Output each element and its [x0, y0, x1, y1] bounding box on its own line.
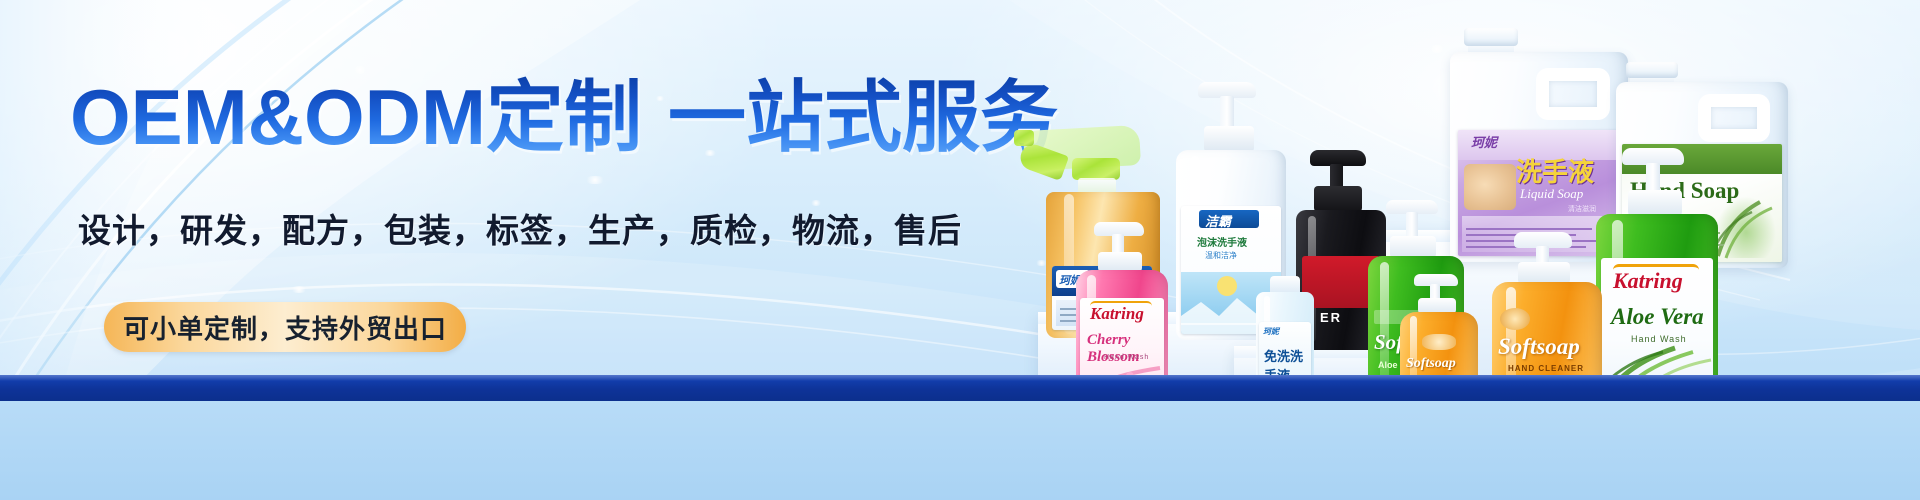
pump-stem: [1220, 96, 1234, 130]
blue-bottle-brand: 珂妮: [1263, 326, 1279, 337]
banner-text-block: OEM&ODM定制一站式服务 设计，研发，配方，包装，标签，生产，质检，物流，售…: [0, 0, 1000, 400]
spray-collar: [1072, 158, 1120, 180]
white-bottle-tag: 温和洁净: [1205, 250, 1237, 261]
jerrycan-handle: [1698, 94, 1770, 142]
bottom-band: [0, 375, 1920, 500]
black-bottle-label-text: ER: [1320, 310, 1342, 325]
jerrycan-handle: [1536, 68, 1610, 120]
status-badge-label: 可小单定制，支持外贸出口: [123, 309, 447, 346]
jerrycan-cap: [1626, 62, 1678, 78]
pump-collar: [1204, 126, 1254, 152]
orange-bottle-seal: [1500, 308, 1530, 330]
pump-collar: [1628, 190, 1682, 216]
product-showcase: 珂妮 洗手液 Liquid Soap 清洁滋润: [980, 0, 1920, 400]
pump-collar: [1518, 262, 1570, 284]
orange-small-brand: Softsoap: [1406, 356, 1456, 372]
pink-bottle-brand: Katring: [1090, 304, 1144, 324]
orange-bottle-brand: Softsoap: [1498, 334, 1580, 360]
katring-aloe-brand: Katring: [1613, 268, 1683, 294]
banner-subtitle: 设计，研发，配方，包装，标签，生产，质检，物流，售后: [78, 204, 962, 252]
product-katring-cherry-bottle[interactable]: Katring Cherry Blossom Hand Wash: [1076, 222, 1168, 400]
product-katring-aloe-bottle[interactable]: Katring Aloe Vera Hand Wash: [1596, 148, 1718, 400]
bottom-accent-bar: [0, 375, 1920, 401]
page-title: OEM&ODM定制一站式服务: [70, 74, 1058, 160]
pump-collar: [1390, 236, 1436, 258]
pump-collar: [1314, 186, 1362, 212]
katring-aloe-label: Katring Aloe Vera Hand Wash: [1601, 258, 1713, 394]
promo-banner: OEM&ODM定制一站式服务 设计，研发，配方，包装，标签，生产，质检，物流，售…: [0, 0, 1920, 500]
jerrycan-purple-title-en: Liquid Soap: [1520, 186, 1583, 202]
jerrycan-purple-sub: 清洁滋润: [1568, 204, 1596, 214]
bottom-bar-shine: [0, 375, 1920, 381]
white-bottle-brand: 洁霸: [1205, 211, 1231, 230]
jerrycan-cap: [1464, 28, 1518, 46]
pump-stem: [1646, 163, 1660, 193]
katring-aloe-variant: Aloe Vera: [1611, 304, 1704, 330]
spray-nozzle: [1014, 130, 1034, 146]
orange-small-seal: [1422, 334, 1456, 350]
jerrycan-purple-brand: 珂妮: [1464, 136, 1504, 150]
pink-bottle-sub: Hand Wash: [1104, 354, 1149, 361]
orange-bottle-variant: HAND CLEANER: [1508, 364, 1584, 373]
pump-collar: [1098, 252, 1142, 272]
white-bottle-sub: 泡沫洗手液: [1197, 234, 1247, 249]
status-badge[interactable]: 可小单定制，支持外贸出口: [104, 302, 466, 352]
jerrycan-purple-title: 洗手液: [1516, 152, 1594, 189]
headline-part-1: OEM&ODM定制: [70, 73, 642, 161]
